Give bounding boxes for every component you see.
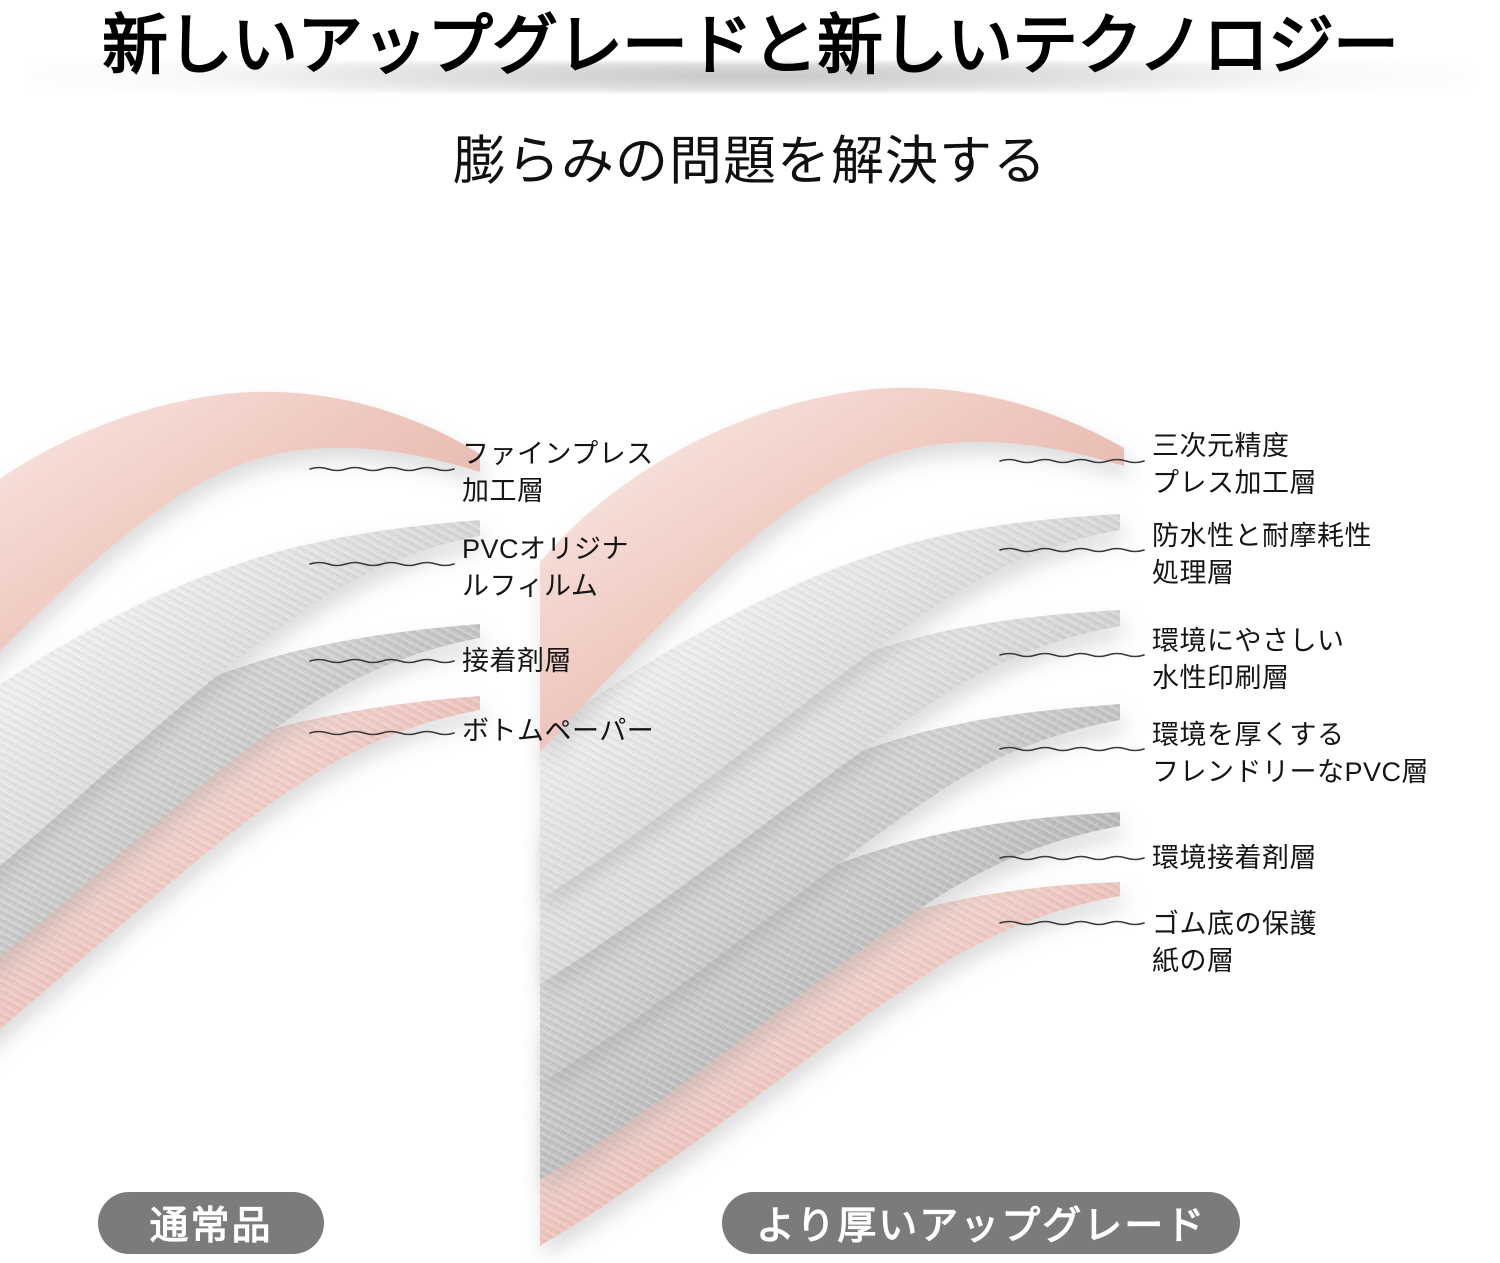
badge-standard-product[interactable]: 通常品 bbox=[98, 1192, 324, 1254]
right-layer-stack bbox=[600, 236, 1300, 1196]
header: 新しいアップグレードと新しいテクノロジー 膨らみの問題を解決する bbox=[0, 0, 1500, 230]
page-subtitle: 膨らみの問題を解決する bbox=[0, 127, 1500, 197]
left-layer-label-2: PVCオリジナ ルフィルム bbox=[462, 531, 629, 605]
left-layer-label-3: 接着剤層 bbox=[462, 643, 572, 680]
right-layer-label-5: 環境接着剤層 bbox=[1152, 840, 1317, 877]
left-layer-label-4: ボトムペーパー bbox=[462, 713, 654, 750]
footer-badges: 通常品 より厚いアップグレード bbox=[0, 1192, 1500, 1263]
right-layer-label-1: 三次元精度 プレス加工層 bbox=[1152, 428, 1317, 502]
right-layer-label-3: 環境にやさしい 水性印刷層 bbox=[1152, 623, 1345, 697]
right-stack-shapes bbox=[600, 236, 1300, 1196]
right-layer-label-2: 防水性と耐摩耗性 処理層 bbox=[1152, 518, 1372, 592]
badge-thicker-upgrade[interactable]: より厚いアップグレード bbox=[722, 1192, 1240, 1254]
right-layer-label-6: ゴム底の保護 紙の層 bbox=[1152, 906, 1317, 980]
left-layer-label-1: ファインプレス 加工層 bbox=[462, 436, 654, 510]
right-layer-label-4: 環境を厚くする フレンドリーなPVC層 bbox=[1152, 717, 1429, 791]
page-title: 新しいアップグレードと新しいテクノロジー bbox=[0, 2, 1500, 88]
